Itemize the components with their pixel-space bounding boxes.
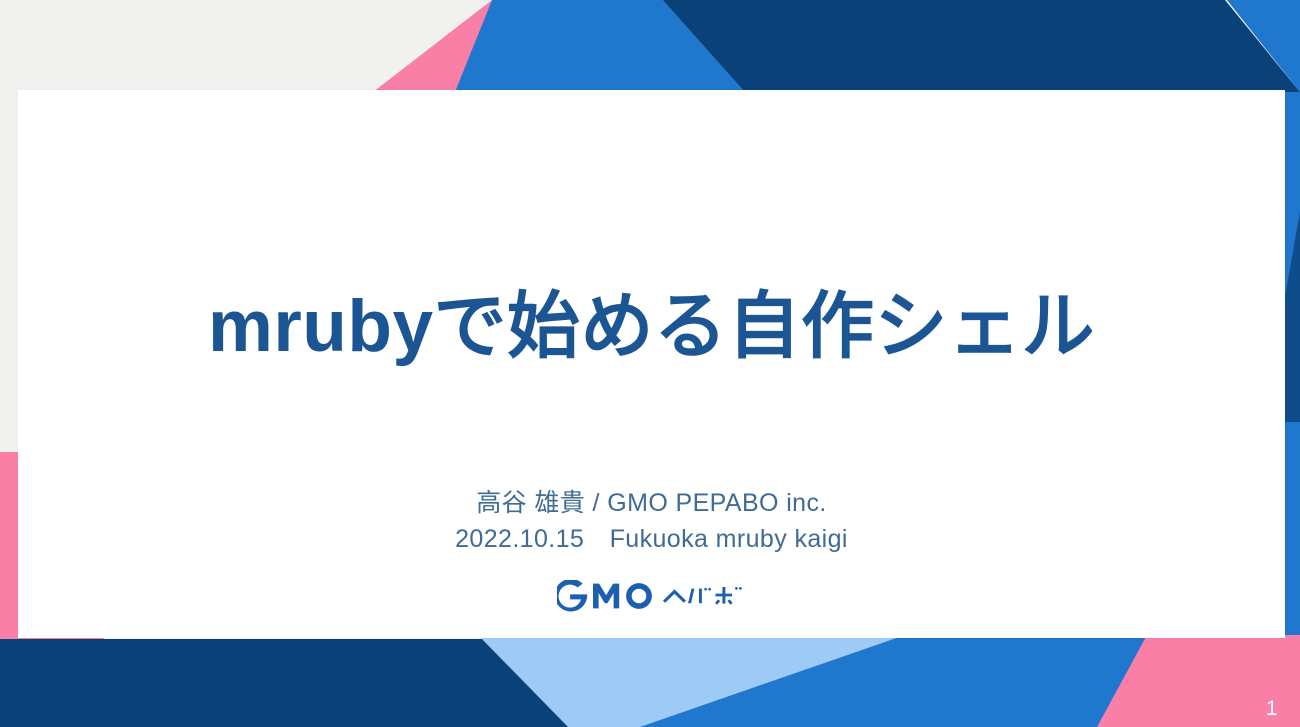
slide-card: mrubyで始める自作シェル 高谷 雄貴 / GMO PEPABO inc. 2… [18, 90, 1285, 638]
presenter-line: 高谷 雄貴 / GMO PEPABO inc. [18, 485, 1285, 521]
page-number: 1 [1266, 698, 1278, 719]
slide: mrubyで始める自作シェル 高谷 雄貴 / GMO PEPABO inc. 2… [0, 0, 1300, 727]
left-gray-strip [0, 0, 20, 460]
slide-title: mrubyで始める自作シェル [18, 287, 1285, 367]
event-line: 2022.10.15 Fukuoka mruby kaigi [18, 521, 1285, 557]
gmo-pepabo-logo [18, 580, 1285, 612]
slide-meta: 高谷 雄貴 / GMO PEPABO inc. 2022.10.15 Fukuo… [18, 485, 1285, 558]
gmo-pepabo-logo-icon [557, 580, 747, 612]
